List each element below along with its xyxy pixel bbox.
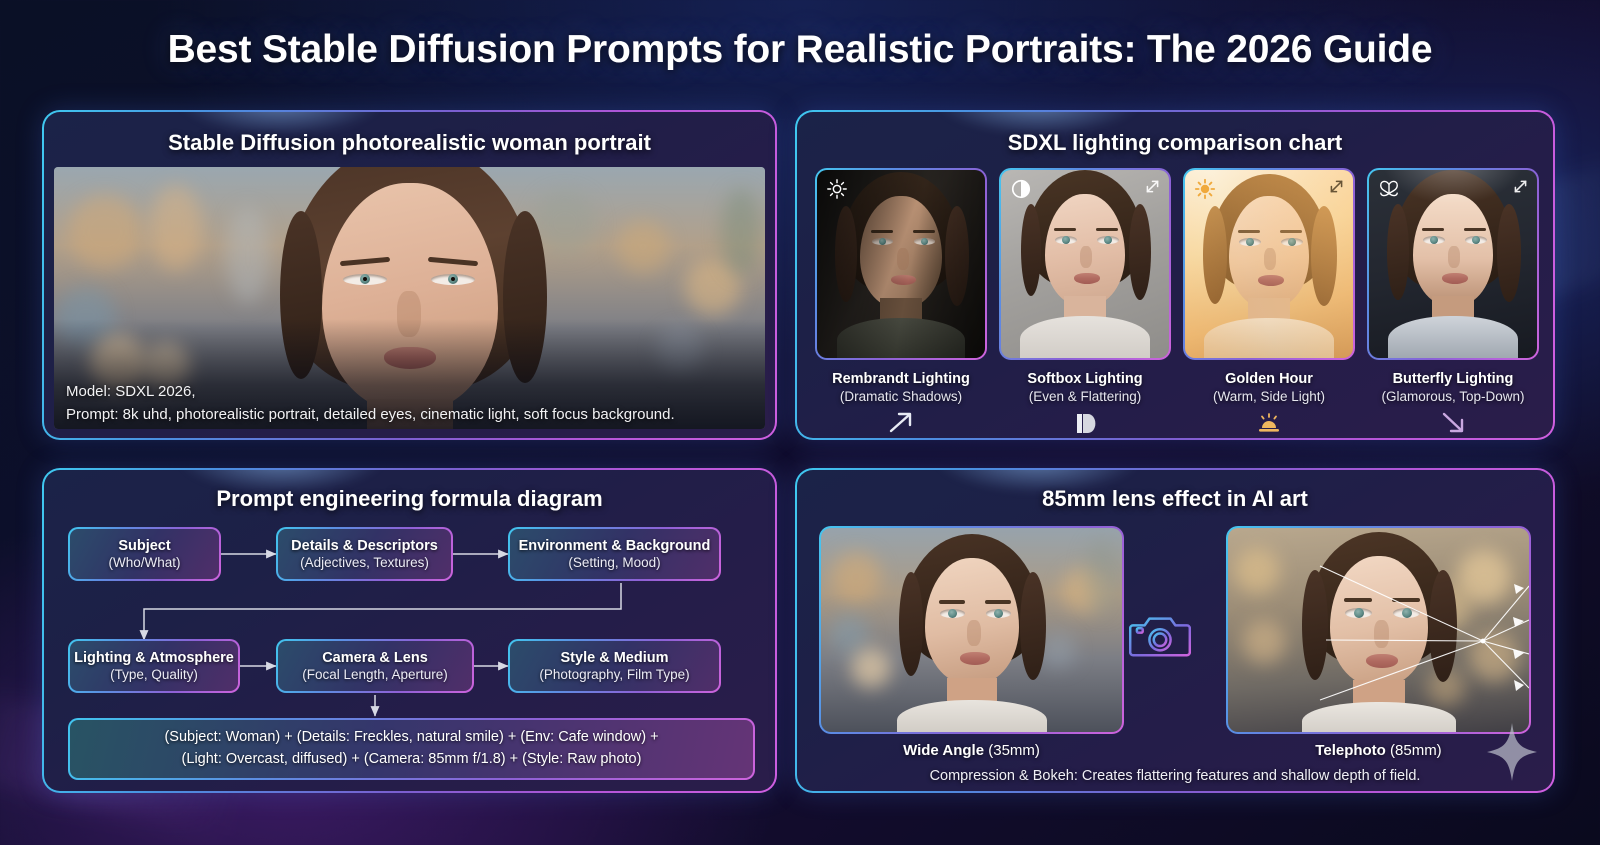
- lighting-item-rembrandt[interactable]: Rembrandt Lighting (Dramatic Shadows): [815, 168, 987, 436]
- node-title: Lighting & Atmosphere: [74, 649, 234, 667]
- butterfly-outline-icon: [1378, 178, 1400, 200]
- node-subtitle: (Focal Length, Aperture): [302, 667, 448, 684]
- panel-lighting-comparison: SDXL lighting comparison chart: [795, 110, 1555, 440]
- sparkle-star-icon: [1485, 721, 1539, 783]
- thumbnail-butterfly: [1369, 170, 1537, 358]
- page-title: Best Stable Diffusion Prompts for Realis…: [0, 28, 1600, 72]
- lighting-item-softbox[interactable]: Softbox Lighting (Even & Flattering): [999, 168, 1171, 436]
- brightness-sun-outline-icon: [826, 178, 848, 200]
- flow-node-example-formula[interactable]: (Subject: Woman) + (Details: Freckles, n…: [68, 718, 755, 780]
- node-title: Style & Medium: [561, 649, 669, 667]
- flow-node-style[interactable]: Style & Medium (Photography, Film Type): [508, 639, 721, 693]
- flow-node-lighting[interactable]: Lighting & Atmosphere (Type, Quality): [68, 639, 240, 693]
- flow-node-environment[interactable]: Environment & Background (Setting, Mood): [508, 527, 721, 581]
- lens-caption-wide-angle: Wide Angle (35mm): [819, 742, 1124, 759]
- lens-note: Compression & Bokeh: Creates flattering …: [797, 768, 1553, 784]
- softbox-panel-icon: [1072, 410, 1098, 436]
- panel-lens-title: 85mm lens effect in AI art: [797, 470, 1553, 512]
- arrow-down-right-icon: [1438, 410, 1468, 436]
- panel-lens-effect: 85mm lens effect in AI art: [795, 468, 1555, 793]
- lens-value: (35mm): [988, 742, 1040, 759]
- lighting-sublabel: (Even & Flattering): [999, 389, 1171, 404]
- panel-lighting-title: SDXL lighting comparison chart: [797, 112, 1553, 156]
- lens-frame-telephoto: [1226, 526, 1531, 734]
- panel-portrait-title: Stable Diffusion photorealistic woman po…: [44, 112, 775, 156]
- node-subtitle: (Setting, Mood): [568, 555, 660, 572]
- lighting-sublabel: (Glamorous, Top-Down): [1367, 389, 1539, 404]
- panel-formula-title: Prompt engineering formula diagram: [44, 470, 775, 512]
- node-title: Subject: [118, 537, 170, 555]
- node-subtitle: (Photography, Film Type): [539, 667, 689, 684]
- thumbnail-golden-hour: [1185, 170, 1353, 358]
- example-line-2: (Light: Overcast, diffused) + (Camera: 8…: [182, 749, 642, 771]
- camera-icon: [1129, 610, 1191, 660]
- hero-caption: Model: SDXL 2026, Prompt: 8k uhd, photor…: [66, 381, 755, 426]
- flow-node-details[interactable]: Details & Descriptors (Adjectives, Textu…: [276, 527, 453, 581]
- lighting-label: Butterfly Lighting: [1367, 371, 1539, 387]
- expand-diagonal-icon: [1328, 178, 1345, 195]
- lighting-direction-indicator: [815, 410, 987, 436]
- flow-node-camera[interactable]: Camera & Lens (Focal Length, Aperture): [276, 639, 474, 693]
- thumbnail-softbox: [1001, 170, 1169, 358]
- light-ray-overlay: [1228, 528, 1529, 732]
- lighting-label: Golden Hour: [1183, 371, 1355, 387]
- lighting-label: Rembrandt Lighting: [815, 371, 987, 387]
- wide-angle-image: [821, 528, 1122, 732]
- lighting-sublabel: (Dramatic Shadows): [815, 389, 987, 404]
- telephoto-image: [1228, 528, 1529, 732]
- lighting-thumbnail-grid: Rembrandt Lighting (Dramatic Shadows): [815, 168, 1539, 436]
- example-line-1: (Subject: Woman) + (Details: Freckles, n…: [164, 727, 658, 749]
- lens-label: Wide Angle: [903, 742, 984, 759]
- node-title: Camera & Lens: [322, 649, 428, 667]
- lighting-item-butterfly[interactable]: Butterfly Lighting (Glamorous, Top-Down): [1367, 168, 1539, 436]
- lighting-direction-indicator: [1367, 410, 1539, 436]
- flow-node-subject[interactable]: Subject (Who/What): [68, 527, 221, 581]
- expand-diagonal-icon: [1144, 178, 1161, 195]
- lighting-sublabel: (Warm, Side Light): [1183, 389, 1355, 404]
- panel-portrait: Stable Diffusion photorealistic woman po…: [42, 110, 777, 440]
- thumbnail-rembrandt: [817, 170, 985, 358]
- node-subtitle: (Who/What): [108, 555, 180, 572]
- node-subtitle: (Adjectives, Textures): [300, 555, 429, 572]
- caption-prompt: Prompt: 8k uhd, photorealistic portrait,…: [66, 404, 755, 427]
- contrast-half-circle-icon: [1010, 178, 1032, 200]
- lens-label: Telephoto: [1315, 742, 1386, 759]
- lighting-item-golden-hour[interactable]: Golden Hour (Warm, Side Light): [1183, 168, 1355, 436]
- arrow-up-right-icon: [886, 410, 916, 436]
- lighting-label: Softbox Lighting: [999, 371, 1171, 387]
- lens-value: (85mm): [1390, 742, 1442, 759]
- lens-frame-wide-angle: [819, 526, 1124, 734]
- caption-model: Model: SDXL 2026,: [66, 381, 755, 404]
- lighting-direction-indicator: [999, 410, 1171, 436]
- sunrise-icon: [1254, 411, 1284, 435]
- node-title: Details & Descriptors: [291, 537, 438, 555]
- node-subtitle: (Type, Quality): [110, 667, 198, 684]
- node-title: Environment & Background: [519, 537, 711, 555]
- collapse-diagonal-icon: [1512, 178, 1529, 195]
- panel-prompt-formula: Prompt engineering formula diagram Subje…: [42, 468, 777, 793]
- lighting-direction-indicator: [1183, 410, 1355, 436]
- sun-filled-icon: [1194, 178, 1216, 200]
